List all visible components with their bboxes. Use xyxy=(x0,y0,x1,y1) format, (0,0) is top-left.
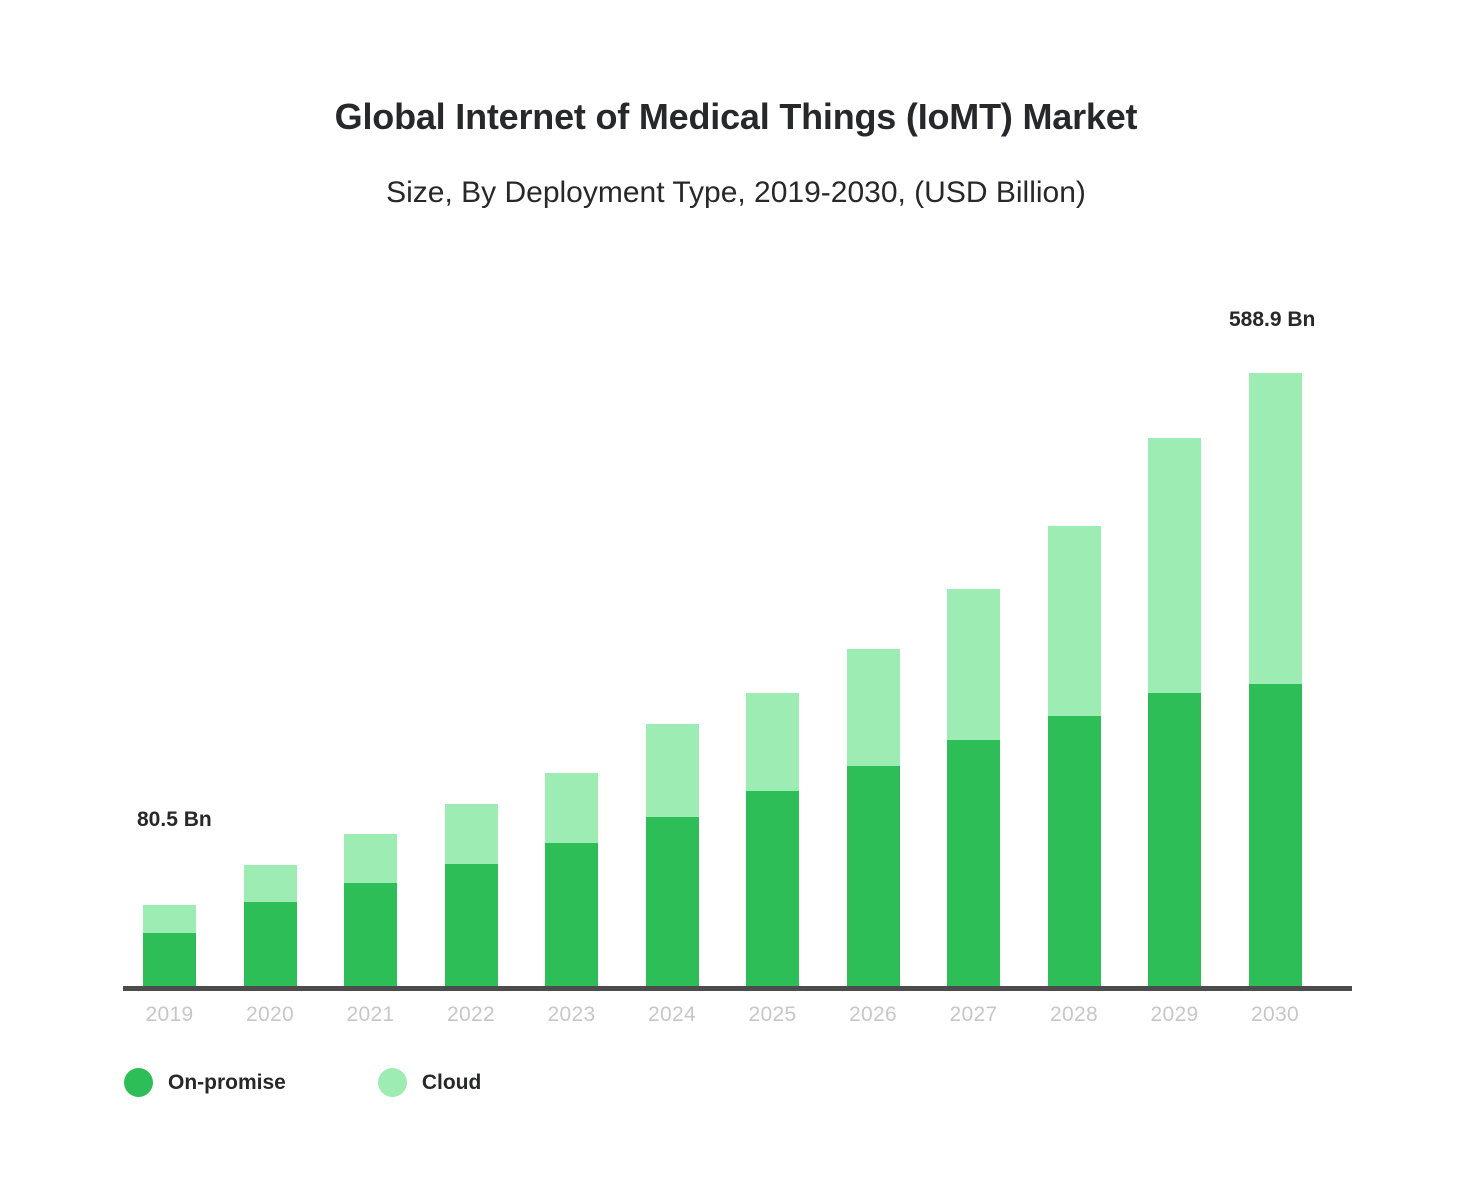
bar-segment-on-promise[interactable] xyxy=(1249,684,1302,989)
bar-group[interactable] xyxy=(847,649,900,989)
value-label-last: 588.9 Bn xyxy=(1229,308,1315,332)
bar-segment-cloud[interactable] xyxy=(344,834,397,883)
x-axis-tick-label: 2021 xyxy=(331,1003,411,1027)
x-axis-tick-label: 2020 xyxy=(230,1003,310,1027)
bar-group[interactable] xyxy=(746,693,799,989)
x-axis-line xyxy=(123,986,1352,991)
x-axis-tick-label: 2025 xyxy=(733,1003,813,1027)
x-axis-tick-label: 2023 xyxy=(532,1003,612,1027)
x-axis-tick-label: 2028 xyxy=(1034,1003,1114,1027)
bar-segment-on-promise[interactable] xyxy=(847,766,900,989)
legend-swatch-circle-icon xyxy=(124,1068,153,1097)
bar-segment-cloud[interactable] xyxy=(1048,526,1101,716)
bar-group[interactable] xyxy=(646,724,699,989)
bar-segment-on-promise[interactable] xyxy=(445,864,498,989)
bar-segment-cloud[interactable] xyxy=(545,773,598,843)
bar-segment-cloud[interactable] xyxy=(244,865,297,902)
x-axis-tick-label: 2024 xyxy=(632,1003,712,1027)
bar-segment-cloud[interactable] xyxy=(143,905,196,933)
legend-item-label: Cloud xyxy=(422,1071,481,1095)
chart-legend: On-promiseCloud xyxy=(124,1068,481,1097)
value-label-first: 80.5 Bn xyxy=(137,808,212,832)
legend-swatch-circle-icon xyxy=(378,1068,407,1097)
x-axis-tick-label: 2022 xyxy=(431,1003,511,1027)
x-axis-tick-label: 2029 xyxy=(1135,1003,1215,1027)
bar-segment-on-promise[interactable] xyxy=(947,740,1000,989)
bar-segment-on-promise[interactable] xyxy=(143,933,196,989)
bar-segment-on-promise[interactable] xyxy=(545,843,598,989)
bar-segment-cloud[interactable] xyxy=(746,693,799,791)
bar-group[interactable] xyxy=(1148,438,1201,989)
bar-group[interactable] xyxy=(545,773,598,989)
legend-item-cloud[interactable]: Cloud xyxy=(378,1068,481,1097)
x-axis-tick-label: 2027 xyxy=(934,1003,1014,1027)
chart-figure: Global Internet of Medical Things (IoMT)… xyxy=(0,0,1472,1190)
bar-group[interactable] xyxy=(143,905,196,989)
bar-segment-cloud[interactable] xyxy=(1249,373,1302,684)
bar-segment-on-promise[interactable] xyxy=(1048,716,1101,989)
bar-group[interactable] xyxy=(1249,373,1302,989)
bar-segment-on-promise[interactable] xyxy=(646,817,699,989)
plot-area: 2019202020212022202320242025202620272028… xyxy=(0,0,1472,1190)
bar-segment-on-promise[interactable] xyxy=(344,883,397,989)
x-axis-tick-label: 2030 xyxy=(1235,1003,1315,1027)
bar-segment-cloud[interactable] xyxy=(847,649,900,766)
bar-segment-on-promise[interactable] xyxy=(244,902,297,989)
legend-item-label: On-promise xyxy=(168,1071,286,1095)
x-axis-tick-label: 2019 xyxy=(130,1003,210,1027)
bar-segment-cloud[interactable] xyxy=(646,724,699,817)
bar-group[interactable] xyxy=(445,804,498,989)
bar-segment-cloud[interactable] xyxy=(947,589,1000,740)
bar-group[interactable] xyxy=(947,589,1000,989)
legend-item-on-promise[interactable]: On-promise xyxy=(124,1068,286,1097)
bar-group[interactable] xyxy=(244,865,297,989)
bar-segment-on-promise[interactable] xyxy=(1148,693,1201,989)
bar-group[interactable] xyxy=(344,834,397,989)
bar-segment-cloud[interactable] xyxy=(445,804,498,864)
bar-segment-on-promise[interactable] xyxy=(746,791,799,989)
bar-segment-cloud[interactable] xyxy=(1148,438,1201,693)
bar-group[interactable] xyxy=(1048,526,1101,989)
x-axis-tick-label: 2026 xyxy=(833,1003,913,1027)
